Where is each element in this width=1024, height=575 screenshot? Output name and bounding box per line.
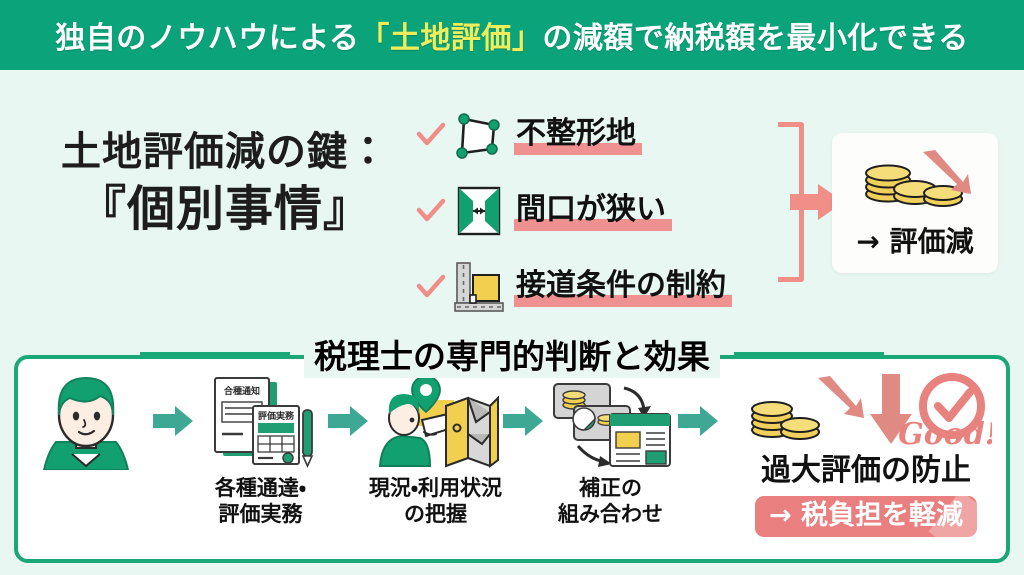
flow-arrow-icon: [503, 372, 543, 470]
svg-text:評価実務: 評価実務: [257, 410, 294, 422]
key-title-line1: 土地評価減の鍵：: [30, 128, 420, 177]
checklist-item-label: 不整形地: [516, 119, 636, 151]
svg-text:合種通知: 合種通知: [222, 385, 259, 397]
road-access-icon: [450, 259, 508, 315]
flow-step-label: 現況・利用状況 の把握: [369, 476, 502, 527]
flow-step-label: [82, 476, 89, 502]
flow-label-line2: 組み合わせ: [558, 502, 663, 528]
flow-step-accountant: [18, 372, 153, 502]
checklist-item-label: 間口が狭い: [516, 195, 666, 227]
tax-accountant-avatar-icon: [26, 372, 146, 470]
flow-step-correction: 補正の 組み合わせ: [543, 372, 678, 527]
valuation-reduction-card: → 評価減: [832, 133, 998, 273]
flow-label-line2: 評価実務: [215, 502, 306, 528]
checklist-item-label: 接道条件の制約: [516, 271, 726, 303]
checklist-item-road-access: 接道条件の制約: [412, 256, 772, 318]
narrow-frontage-icon: [450, 183, 508, 239]
map-survey-icon: [372, 372, 500, 470]
flow-label-line1: 各種通達・: [215, 476, 306, 502]
flow-step-site-survey: 現況・利用状況 の把握: [368, 372, 503, 527]
flow-step-label: 補正の 組み合わせ: [558, 476, 663, 527]
flow-step-documents: 合種通知 評価実務 各種通達・ 評価実務: [193, 372, 328, 527]
valuation-reduction-label: → 評価減: [856, 220, 973, 260]
correction-combination-icon: [548, 372, 674, 470]
header-title-after: の減額で納税額を最小化できる: [542, 21, 968, 56]
flow-arrow-icon: [153, 372, 193, 470]
page-title: 独自のノウハウによる「土地評価」の減額で納税額を最小化できる: [55, 13, 969, 57]
checklist-label-text: 接道条件の制約: [516, 268, 726, 303]
flow-arrow-icon: [328, 372, 368, 470]
key-title: 土地評価減の鍵： 『個別事情』: [30, 128, 420, 238]
key-title-line2: 『個別事情』: [30, 181, 420, 239]
check-icon: [412, 122, 450, 148]
coins-down-arrow-icon: [855, 146, 975, 218]
checklist-item-irregular-land: 不整形地: [412, 104, 772, 166]
irregular-land-polygon-icon: [450, 109, 508, 161]
flow-arrow-icon: [678, 372, 718, 470]
process-flow: 合種通知 評価実務 各種通達・ 評価実務: [18, 372, 718, 552]
checklist: 不整形地 間口が狭い: [412, 104, 772, 332]
good-stamp-text: Good!: [898, 417, 992, 452]
outcome-badge: → 税負担を軽減: [755, 496, 977, 537]
check-icon: [412, 198, 450, 224]
flow-label-line2: の把握: [369, 502, 502, 528]
coins-down-arrow-good-icon: Good!: [740, 372, 992, 454]
header-title-highlight: 「土地評価」: [359, 21, 542, 56]
check-icon: [412, 274, 450, 300]
flow-step-label: 各種通達・ 評価実務: [215, 476, 306, 527]
checklist-label-text: 間口が狭い: [516, 192, 666, 227]
outcome-badge-text: → 税負担を軽減: [769, 500, 963, 531]
checklist-label-text: 不整形地: [516, 116, 636, 151]
documents-notice-icon: 合種通知 評価実務: [203, 372, 319, 470]
checklist-item-narrow-frontage: 間口が狭い: [412, 180, 772, 242]
flow-label-line1: 現況・利用状況: [369, 476, 502, 502]
outcome-title: 過大評価の防止: [761, 456, 971, 486]
header-title-before: 独自のノウハウによる: [55, 21, 359, 56]
flow-label-line1: 補正の: [558, 476, 663, 502]
outcome-block: Good! 過大評価の防止 → 税負担を軽減: [735, 372, 997, 537]
header-bar: 独自のノウハウによる「土地評価」の減額で納税額を最小化できる: [0, 0, 1024, 70]
